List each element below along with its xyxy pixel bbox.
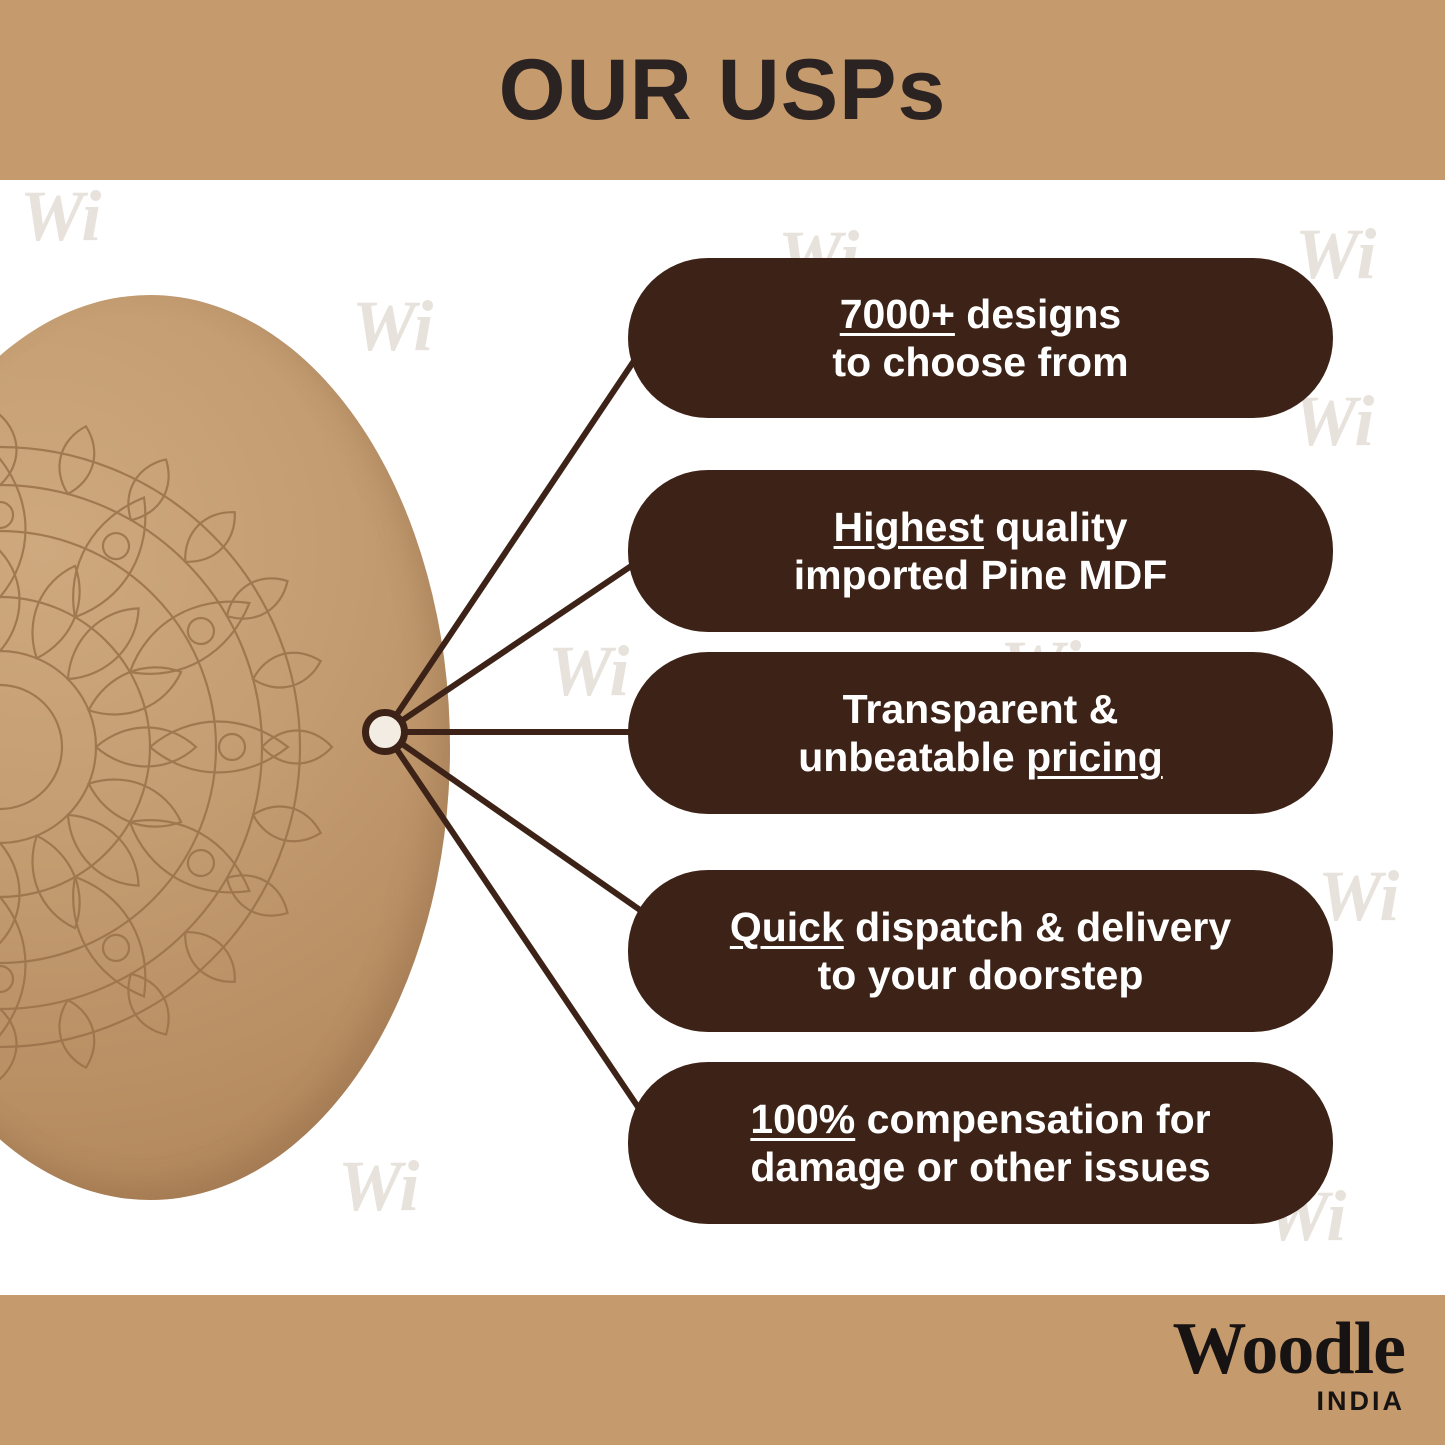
brand-name: Woodle [1173,1312,1405,1386]
usp-infographic: OUR USPs Wi Wi Wi Wi Wi Wi Wi Wi Wi Wi [0,0,1445,1445]
usp-line-1: Quick dispatch & delivery [730,903,1231,951]
usp-pill-designs[interactable]: 7000+ designs to choose from [628,258,1333,418]
usp-highlight: pricing [1026,734,1163,780]
header-band: OUR USPs [0,0,1445,180]
usp-text: unbeatable [798,734,1026,780]
usp-text: designs [955,291,1121,337]
page-title: OUR USPs [499,41,947,140]
usp-highlight: 100% [750,1096,855,1142]
usp-line-1: Highest quality [834,503,1128,551]
usp-line-2: to your doorstep [818,951,1144,999]
usp-line-2: unbeatable pricing [798,733,1163,781]
usp-pill-compensation[interactable]: 100% compensation for damage or other is… [628,1062,1333,1224]
usp-text: quality [984,504,1128,550]
brand-logo: Woodle INDIA [1173,1312,1405,1415]
usp-highlight: Highest [834,504,984,550]
usp-line-1: 7000+ designs [840,290,1121,338]
hub-node [362,709,408,755]
usp-line-2: imported Pine MDF [794,551,1168,599]
usp-line-2: damage or other issues [750,1143,1210,1191]
diagram-canvas: Wi Wi Wi Wi Wi Wi Wi Wi Wi Wi [0,180,1445,1295]
usp-text: compensation for [855,1096,1210,1142]
usp-line-1: 100% compensation for [750,1095,1210,1143]
usp-pill-dispatch[interactable]: Quick dispatch & delivery to your doorst… [628,870,1333,1032]
brand-subtitle: INDIA [1173,1388,1405,1415]
usp-pill-pricing[interactable]: Transparent & unbeatable pricing [628,652,1333,814]
usp-text: dispatch & delivery [844,904,1231,950]
usp-line-2: to choose from [832,338,1128,386]
usp-highlight: 7000+ [840,291,955,337]
usp-line-1: Transparent & [843,685,1119,733]
usp-highlight: Quick [730,904,844,950]
usp-pill-quality[interactable]: Highest quality imported Pine MDF [628,470,1333,632]
